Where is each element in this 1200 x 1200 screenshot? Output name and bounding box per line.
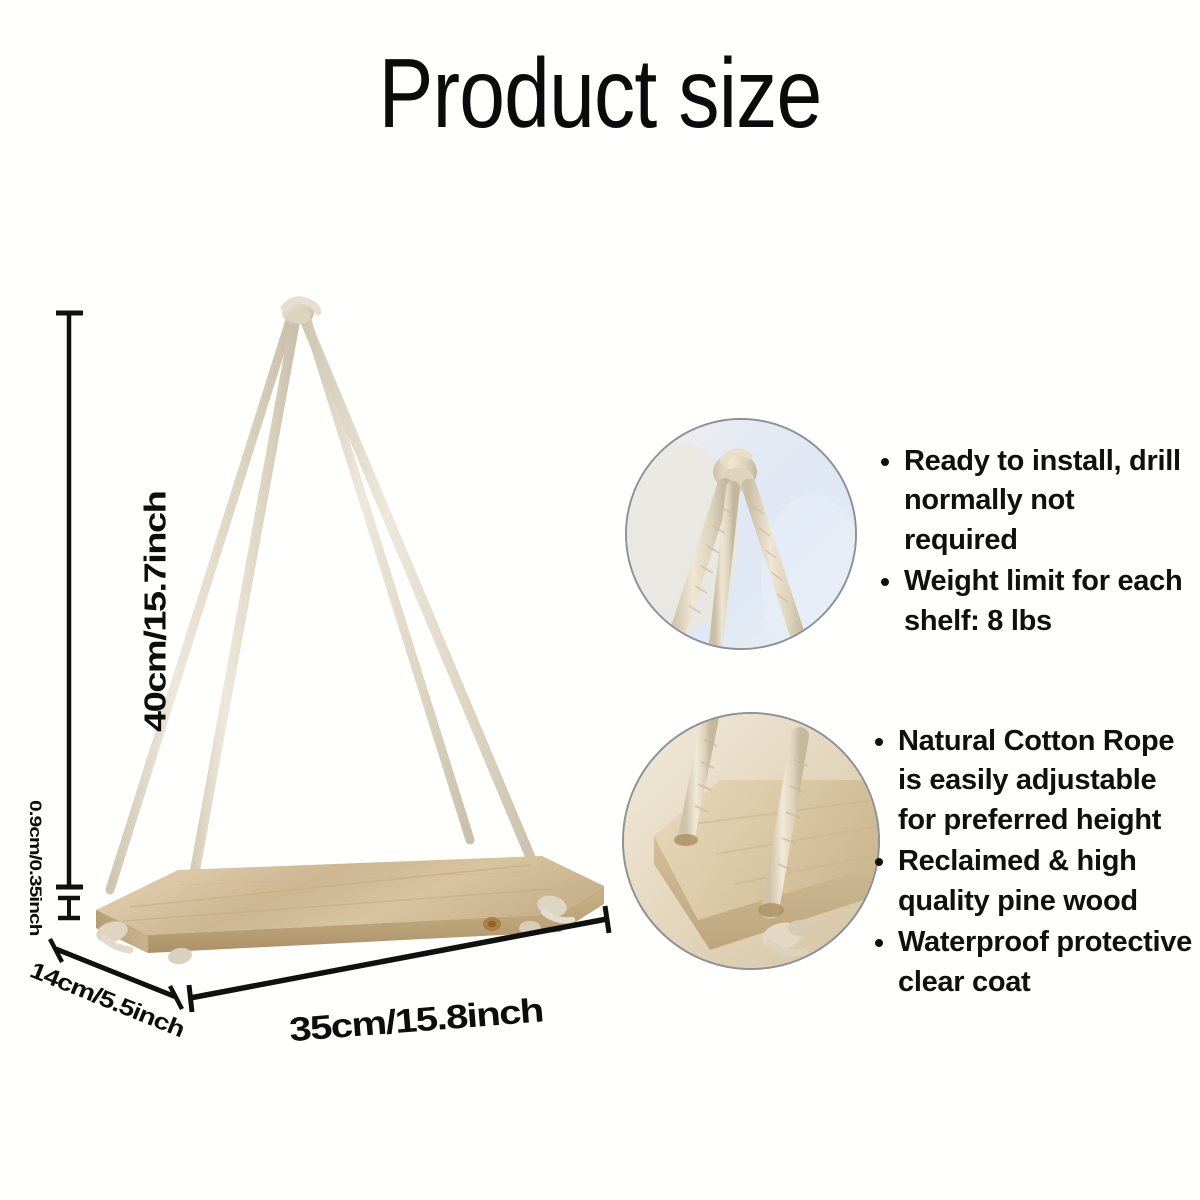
list-item: Natural Cotton Rope is easily adjustable… <box>872 722 1194 840</box>
product-photo <box>60 280 640 1000</box>
bullet-icon <box>881 578 889 586</box>
page-title: Product size <box>96 42 1104 145</box>
feature-text: Reclaimed & high quality pine wood <box>898 845 1138 916</box>
bullet-icon <box>881 458 889 466</box>
list-item: Waterproof protective clear coat <box>872 923 1194 1002</box>
feature-text: Weight limit for each shelf: 8 lbs <box>904 565 1182 636</box>
shelf-board <box>96 856 604 953</box>
feature-text: Ready to install, drill normally not req… <box>904 445 1181 556</box>
feature-list-install: Ready to install, drill normally not req… <box>878 442 1190 643</box>
feature-text: Natural Cotton Rope is easily adjustable… <box>898 725 1174 836</box>
feature-photo-shelf-corner <box>622 712 880 970</box>
bullet-icon <box>875 738 883 746</box>
rope-top-knot <box>282 300 318 324</box>
dimension-label-thickness: 0.9cm/0.35inch <box>25 800 44 935</box>
feature-list-material: Natural Cotton Rope is easily adjustable… <box>872 722 1194 1004</box>
bullet-icon <box>875 939 883 947</box>
product-size-infographic: Product size <box>0 0 1200 1200</box>
list-item: Weight limit for each shelf: 8 lbs <box>878 562 1190 641</box>
list-item: Reclaimed & high quality pine wood <box>872 842 1194 921</box>
list-item: Ready to install, drill normally not req… <box>878 442 1190 560</box>
feature-text: Waterproof protective clear coat <box>898 926 1192 997</box>
feature-photo-rope-knot <box>625 418 857 650</box>
dimension-label-width: 35cm/15.8inch <box>288 992 544 1050</box>
bullet-icon <box>875 858 883 866</box>
